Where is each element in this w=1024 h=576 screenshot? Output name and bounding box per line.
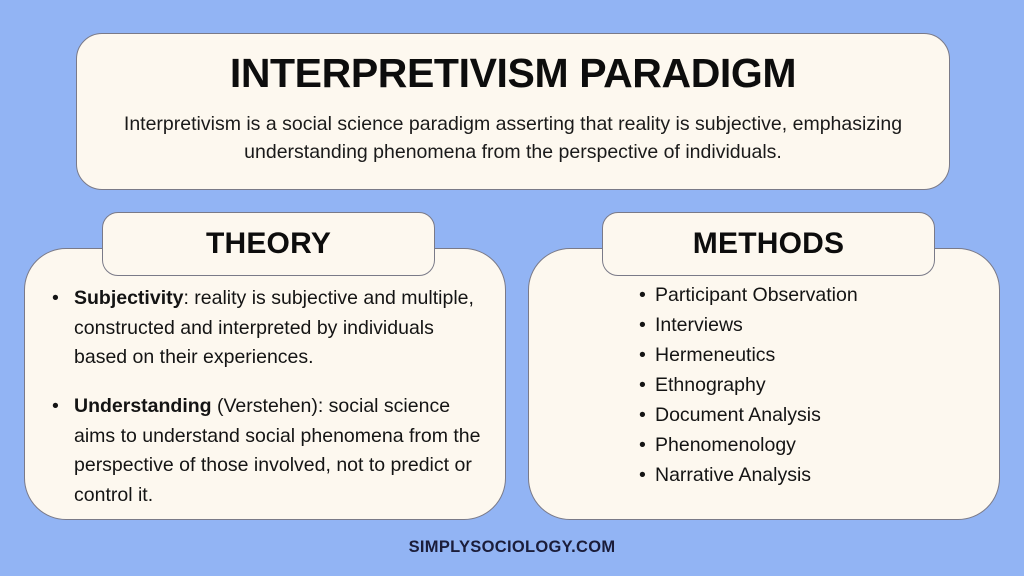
list-item: •Interviews xyxy=(528,316,1000,336)
list-item: •Hermeneutics xyxy=(528,346,1000,366)
theory-panel-header: THEORY xyxy=(102,212,435,276)
bullet-icon: • xyxy=(639,286,646,306)
list-item: •Phenomenology xyxy=(528,436,1000,456)
theory-item-lead: Subjectivity xyxy=(74,287,183,309)
methods-item-label: Document Analysis xyxy=(655,404,821,426)
list-item: •Narrative Analysis xyxy=(528,466,1000,486)
methods-panel-title: METHODS xyxy=(693,227,844,261)
list-item: •Document Analysis xyxy=(528,406,1000,426)
bullet-icon: • xyxy=(639,316,646,336)
methods-bullet-list: •Participant Observation •Interviews •He… xyxy=(528,286,1000,496)
methods-item-label: Interviews xyxy=(655,314,743,336)
list-item: •Participant Observation xyxy=(528,286,1000,306)
bullet-icon: • xyxy=(52,284,59,314)
methods-item-label: Hermeneutics xyxy=(655,344,775,366)
page-title: INTERPRETIVISM PARADIGM xyxy=(77,34,949,97)
page-subtitle: Interpretivism is a social science parad… xyxy=(77,97,949,167)
footer-attribution: SIMPLYSOCIOLOGY.COM xyxy=(0,538,1024,557)
methods-panel-header: METHODS xyxy=(602,212,935,276)
list-item: •Subjectivity: reality is subjective and… xyxy=(40,284,506,373)
theory-item-lead: Understanding xyxy=(74,395,212,417)
list-item: •Understanding (Verstehen): social scien… xyxy=(40,392,506,511)
bullet-icon: • xyxy=(52,392,59,422)
list-item: •Ethnography xyxy=(528,376,1000,396)
methods-item-label: Narrative Analysis xyxy=(655,464,811,486)
bullet-icon: • xyxy=(639,466,646,486)
bullet-icon: • xyxy=(639,346,646,366)
methods-item-label: Ethnography xyxy=(655,374,766,396)
methods-item-label: Participant Observation xyxy=(655,284,858,306)
bullet-icon: • xyxy=(639,436,646,456)
hero-card: INTERPRETIVISM PARADIGM Interpretivism i… xyxy=(76,33,950,190)
bullet-icon: • xyxy=(639,376,646,396)
theory-bullet-list: •Subjectivity: reality is subjective and… xyxy=(24,284,506,529)
bullet-icon: • xyxy=(639,406,646,426)
methods-item-label: Phenomenology xyxy=(655,434,796,456)
theory-panel-title: THEORY xyxy=(206,227,331,261)
